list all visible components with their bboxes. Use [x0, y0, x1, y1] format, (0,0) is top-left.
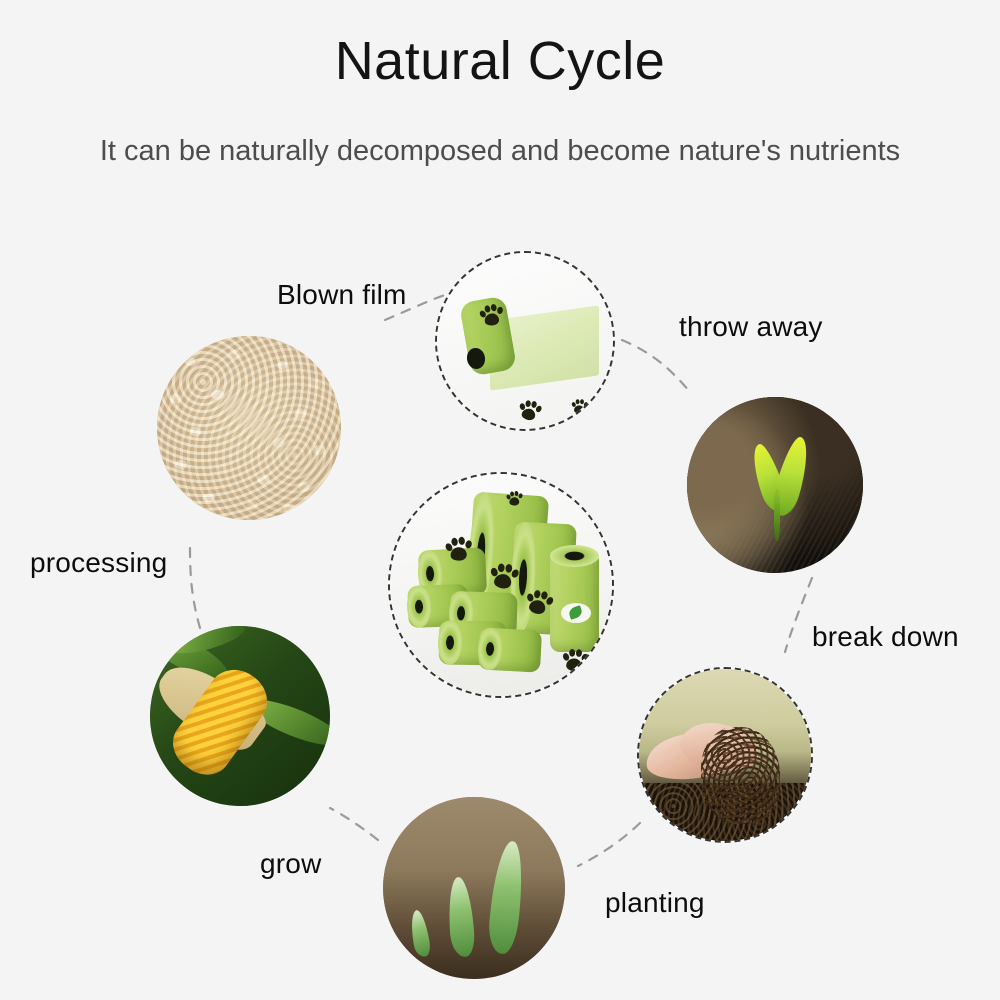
- eco-logo-badge: [561, 603, 591, 623]
- node-break-down[interactable]: [637, 667, 813, 843]
- paw-print-icon: [505, 491, 523, 508]
- seedlings-photo: [383, 797, 565, 979]
- paw-print-icon: [561, 649, 587, 674]
- connector-planting-to-grow: [330, 808, 378, 840]
- node-throw-away[interactable]: [687, 397, 863, 573]
- sprout-in-soil-photo: [687, 397, 863, 573]
- page-title: Natural Cycle: [0, 30, 1000, 92]
- blown-film-photo: [437, 253, 613, 429]
- node-center-bag-rolls[interactable]: [388, 472, 614, 698]
- label-throw-away: throw away: [679, 311, 823, 343]
- connector-breakdown-to-planting: [578, 823, 640, 866]
- connector-blownfilm-to-throwaway: [622, 340, 690, 392]
- hands-with-soil-photo: [639, 669, 811, 841]
- page-subtitle: It can be naturally decomposed and becom…: [0, 135, 1000, 168]
- standing-roll: [550, 549, 599, 651]
- node-grow[interactable]: [150, 626, 330, 806]
- node-blown-film[interactable]: [435, 251, 615, 431]
- node-planting[interactable]: [383, 797, 565, 979]
- corn-photo: [150, 626, 330, 806]
- label-planting: planting: [605, 887, 705, 919]
- infographic-canvas: Natural Cycle It can be naturally decomp…: [0, 0, 1000, 1000]
- paw-print-icon: [523, 589, 554, 619]
- bag-rolls-photo: [390, 474, 612, 696]
- label-blown-film: Blown film: [277, 279, 407, 311]
- label-break-down: break down: [812, 621, 959, 653]
- paw-print-icon: [517, 399, 542, 423]
- connector-grow-to-processing: [190, 548, 200, 628]
- connector-throwaway-to-breakdown: [785, 578, 812, 652]
- paw-print-icon: [570, 400, 587, 415]
- node-processing[interactable]: [157, 336, 341, 520]
- label-grow: grow: [260, 848, 322, 880]
- paw-print-icon: [443, 536, 473, 565]
- paw-print-icon: [488, 563, 518, 592]
- resin-pellets-photo: [157, 336, 341, 520]
- label-processing: processing: [30, 547, 167, 579]
